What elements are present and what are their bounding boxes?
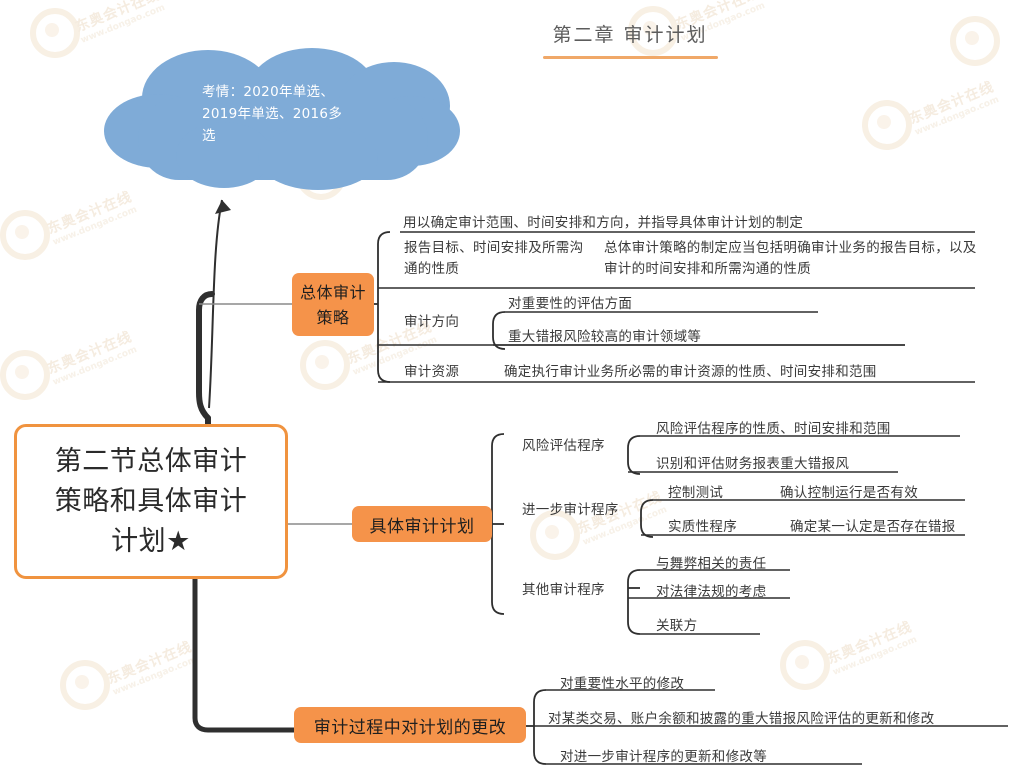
leaf-subitem: 对法律法规的考虑 bbox=[656, 580, 766, 600]
leaf-subitem: 重大错报风险较高的审计领域等 bbox=[508, 325, 701, 345]
leaf-subitem: 控制测试 bbox=[668, 481, 723, 501]
leaf-row: 审计资源 bbox=[404, 360, 459, 380]
leaf-row: 风险评估程序 bbox=[522, 434, 605, 454]
leaf-subitem: 对重要性的评估方面 bbox=[508, 292, 632, 312]
root-node[interactable]: 第二节总体审计策略和具体审计计划★ bbox=[14, 424, 288, 579]
leaf-subitem-detail: 确定某一认定是否存在错报 bbox=[790, 515, 956, 535]
leaf-subitem: 关联方 bbox=[656, 614, 697, 634]
leaf-subitem: 与舞弊相关的责任 bbox=[656, 552, 766, 572]
leaf-row: 报告目标、时间安排及所需沟通的性质 bbox=[404, 238, 594, 280]
branch-node-plan-changes[interactable]: 审计过程中对计划的更改 bbox=[294, 707, 526, 743]
leaf-row: 对重要性水平的修改 bbox=[560, 672, 684, 692]
leaf-subitem-detail: 确认控制运行是否有效 bbox=[780, 481, 918, 501]
leaf-row: 对进一步审计程序的更新和修改等 bbox=[560, 745, 767, 765]
leaf-subitem: 实质性程序 bbox=[668, 515, 737, 535]
leaf-row: 其他审计程序 bbox=[522, 578, 605, 598]
leaf-row: 进一步审计程序 bbox=[522, 498, 619, 518]
leaf-subitem: 风险评估程序的性质、时间安排和范围 bbox=[656, 417, 891, 437]
connector-lines bbox=[0, 0, 1018, 774]
leaf-detail: 确定执行审计业务所必需的审计资源的性质、时间安排和范围 bbox=[504, 360, 877, 380]
leaf-subitem: 识别和评估财务报表重大错报风 bbox=[656, 452, 849, 472]
mindmap-canvas: 东奥会计在线 www.dongao.com 东奥会计在线 www.dongao.… bbox=[0, 0, 1018, 774]
branch-node-label: 审计过程中对计划的更改 bbox=[314, 713, 507, 738]
root-node-label: 第二节总体审计策略和具体审计计划★ bbox=[46, 442, 256, 562]
branch-node-specific-audit-plan[interactable]: 具体审计计划 bbox=[352, 506, 492, 542]
leaf-row: 审计方向 bbox=[404, 310, 459, 330]
leaf-row: 对某类交易、账户余额和披露的重大错报风险评估的更新和修改 bbox=[548, 707, 934, 727]
leaf-detail: 总体审计策略的制定应当包括明确审计业务的报告目标，以及审计的时间安排和所需沟通的… bbox=[604, 238, 979, 280]
leaf-row: 用以确定审计范围、时间安排和方向，并指导具体审计计划的制定 bbox=[403, 211, 803, 231]
cloud-text: 考情：2020年单选、2019年单选、2016多选 bbox=[202, 81, 352, 147]
branch-node-overall-audit-strategy[interactable]: 总体审计策略 bbox=[292, 273, 374, 336]
branch-node-label: 具体审计计划 bbox=[370, 512, 475, 537]
branch-node-label: 总体审计策略 bbox=[292, 280, 374, 330]
